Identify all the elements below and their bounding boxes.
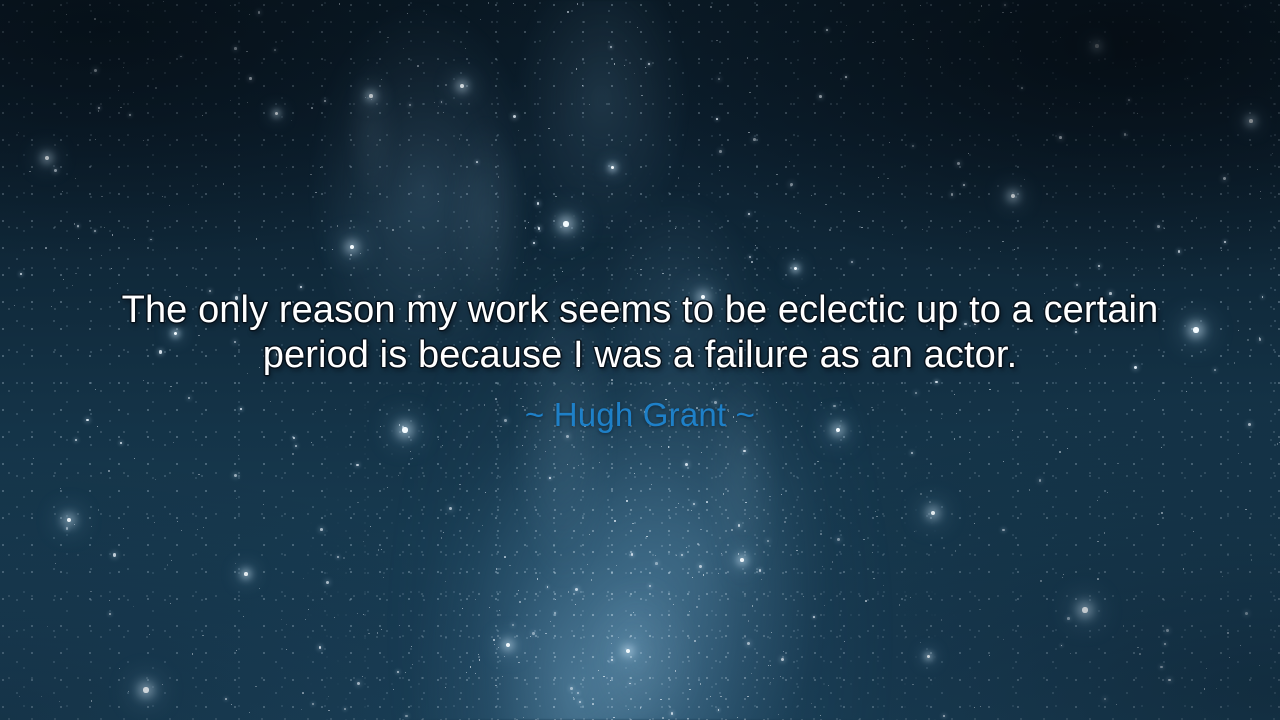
quote-text: The only reason my work seems to be ecle… — [40, 288, 1240, 378]
quote-card-canvas: The only reason my work seems to be ecle… — [0, 0, 1280, 720]
quote-block: The only reason my work seems to be ecle… — [0, 288, 1280, 434]
quote-attribution: ~ Hugh Grant ~ — [40, 396, 1240, 434]
